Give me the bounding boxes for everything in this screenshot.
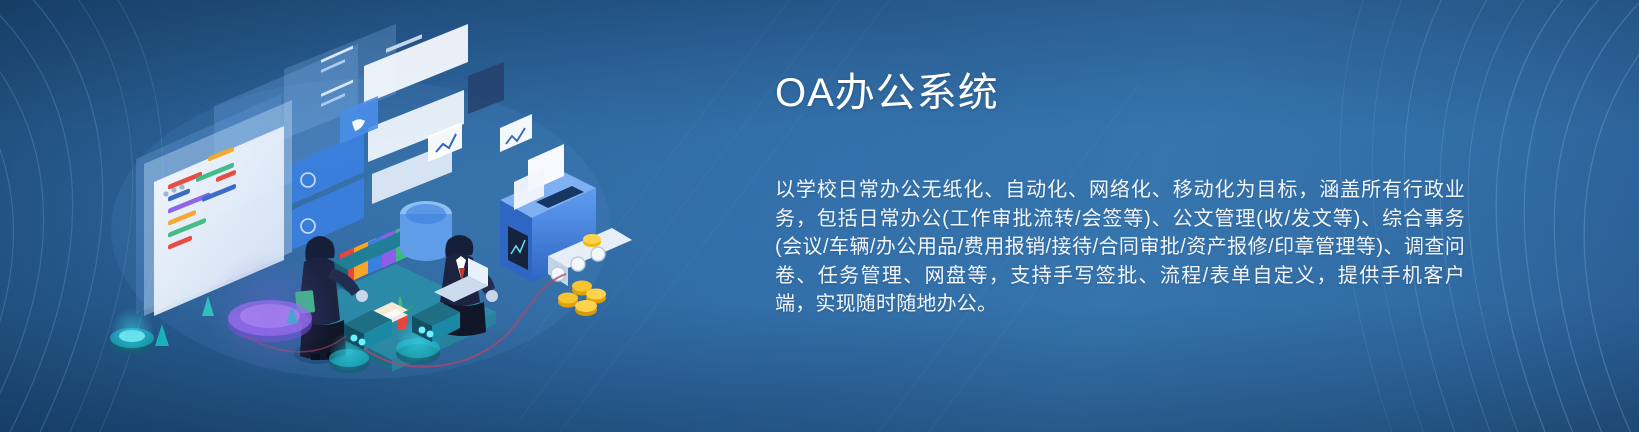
chart-icon-tile xyxy=(428,122,462,162)
person-right xyxy=(440,235,498,336)
message-tile-icon xyxy=(340,96,378,144)
oa-system-banner: OA办公系统 以学校日常办公无纸化、自动化、网络化、移动化为目标，涵盖所有行政业… xyxy=(0,0,1639,432)
banner-description: 以学校日常办公无纸化、自动化、网络化、移动化为目标，涵盖所有行政业务，包括日常办… xyxy=(775,176,1465,319)
banner-text-column: OA办公系统 以学校日常办公无纸化、自动化、网络化、移动化为目标，涵盖所有行政业… xyxy=(775,66,1465,319)
connection-wire xyxy=(364,274,566,367)
gold-coins xyxy=(558,234,606,316)
page-title: OA办公系统 xyxy=(775,66,1465,120)
printer-machine xyxy=(500,24,632,316)
isometric-office-teamwork-illustration xyxy=(96,24,656,384)
left-decorative-arcs xyxy=(0,0,230,432)
dashboard-card xyxy=(144,100,292,316)
task-cards xyxy=(292,46,364,250)
background-ui-panels xyxy=(136,24,396,314)
laptop xyxy=(434,258,488,302)
storage-bin xyxy=(400,201,452,261)
glowing-pedestals xyxy=(110,296,440,373)
file-folders xyxy=(334,220,430,292)
people-and-desk xyxy=(292,201,498,372)
person-left xyxy=(294,236,368,364)
document-sheets xyxy=(364,24,504,204)
connection-wire-secondary xyxy=(246,336,346,352)
desk-plant xyxy=(396,296,414,330)
server-devices xyxy=(344,302,460,350)
